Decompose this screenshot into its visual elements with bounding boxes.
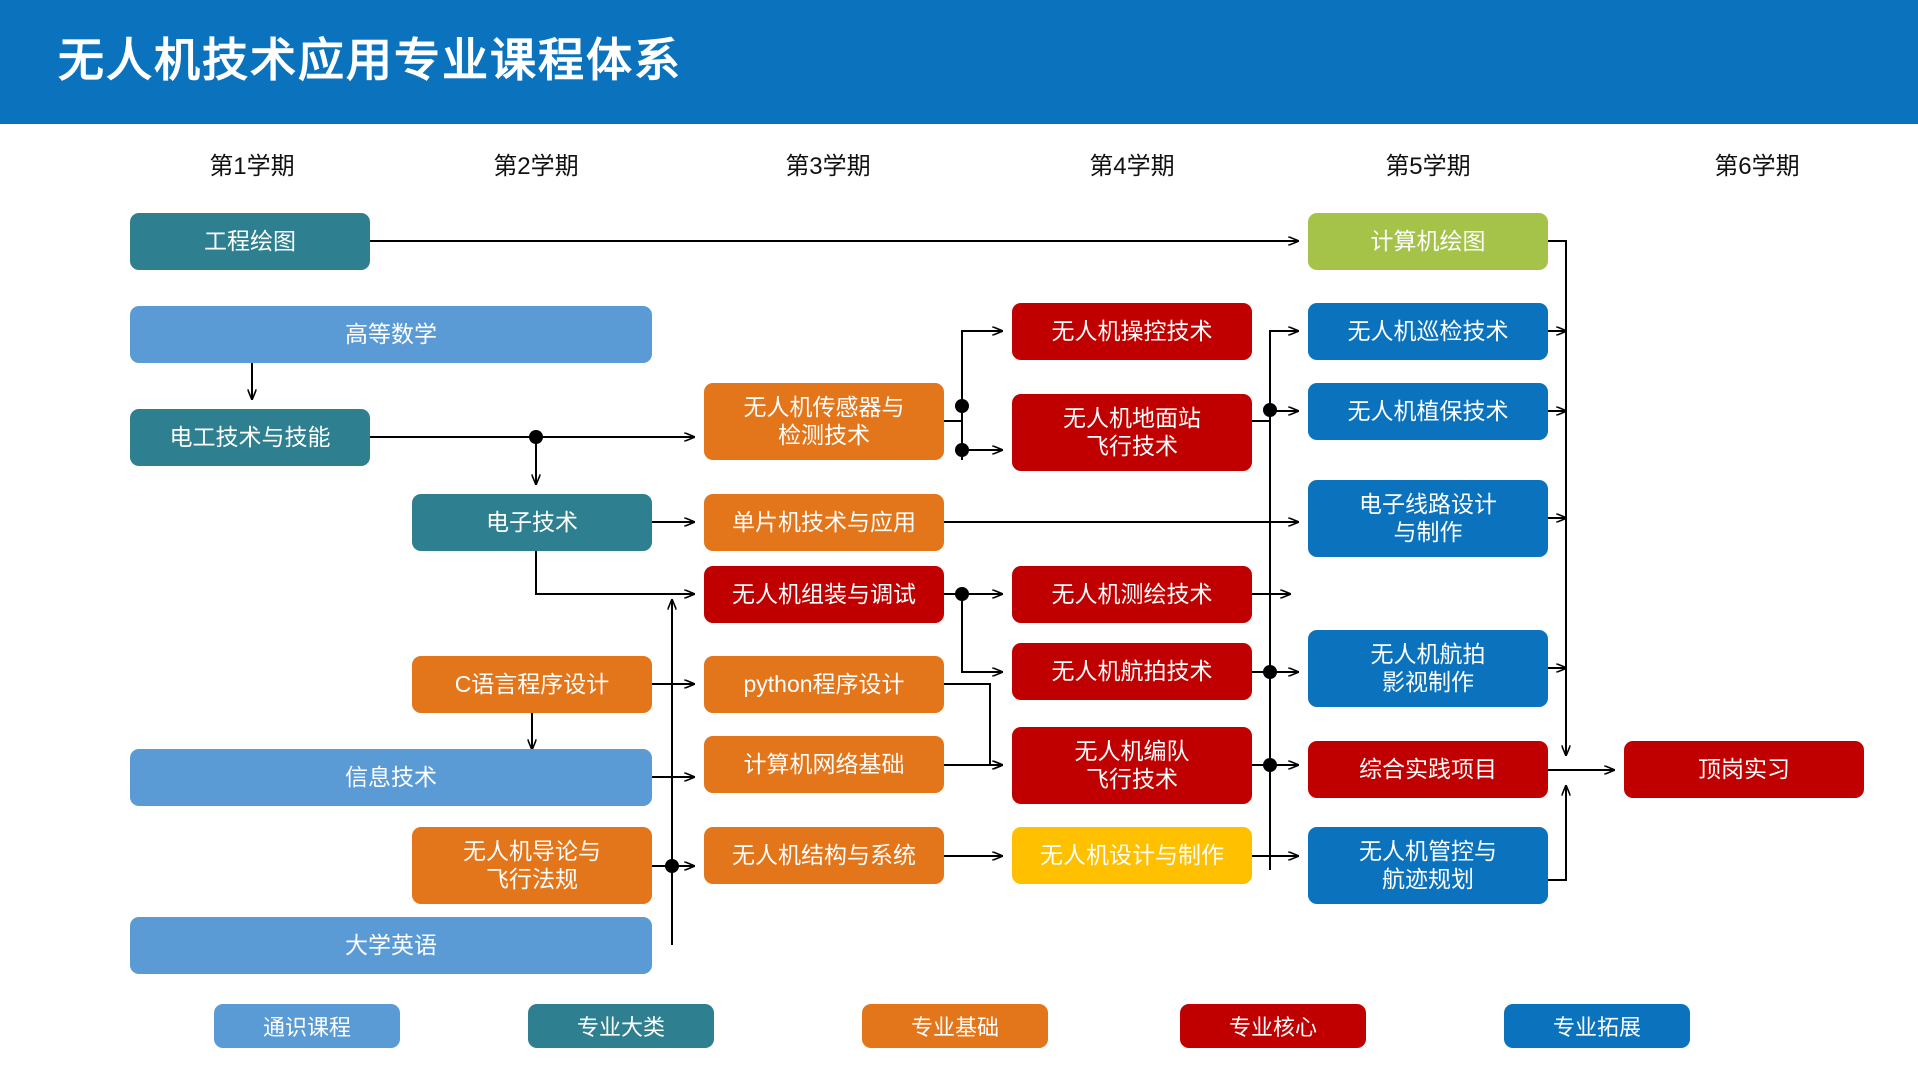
legend-item-basic[interactable]: 专业基础 [862, 1004, 1048, 1048]
page-header: 无人机技术应用专业课程体系 [0, 0, 1918, 124]
legend-item-general[interactable]: 通识课程 [214, 1004, 400, 1048]
course-system-diagram: 无人机技术应用专业课程体系 第1学期第2学期第3学期第4学期第5学期第6学期 [0, 0, 1918, 1077]
course-box-jisuanjihuitu[interactable]: 计算机绘图 [1308, 213, 1548, 270]
course-box-diangongjishu[interactable]: 电工技术与技能 [130, 409, 370, 466]
legend-item-major-cat[interactable]: 专业大类 [528, 1004, 714, 1048]
course-box-chuanganqi[interactable]: 无人机传感器与 检测技术 [704, 383, 944, 460]
semester-header-3: 第3学期 [718, 150, 938, 184]
course-box-python[interactable]: python程序设计 [704, 656, 944, 713]
course-box-gongchenghuitu[interactable]: 工程绘图 [130, 213, 370, 270]
course-box-gaodengshuxue[interactable]: 高等数学 [130, 306, 652, 363]
page-title: 无人机技术应用专业课程体系 [58, 20, 682, 100]
course-box-xinxijishu[interactable]: 信息技术 [130, 749, 652, 806]
legend-item-core[interactable]: 专业核心 [1180, 1004, 1366, 1048]
course-box-guankonghangji[interactable]: 无人机管控与 航迹规划 [1308, 827, 1548, 904]
semester-header-1: 第1学期 [142, 150, 362, 184]
semester-header-4: 第4学期 [1022, 150, 1242, 184]
course-box-hangpaiyingshi[interactable]: 无人机航拍 影视制作 [1308, 630, 1548, 707]
course-box-wurenjidaolun[interactable]: 无人机导论与 飞行法规 [412, 827, 652, 904]
course-box-cyuyan[interactable]: C语言程序设计 [412, 656, 652, 713]
course-box-wangluojichu[interactable]: 计算机网络基础 [704, 736, 944, 793]
course-box-shejizhizuo[interactable]: 无人机设计与制作 [1012, 827, 1252, 884]
semester-header-2: 第2学期 [426, 150, 646, 184]
course-box-bianduifeixing[interactable]: 无人机编队 飞行技术 [1012, 727, 1252, 804]
course-box-hangpaijishu[interactable]: 无人机航拍技术 [1012, 643, 1252, 700]
course-box-caokongjishu[interactable]: 无人机操控技术 [1012, 303, 1252, 360]
semester-header-6: 第6学期 [1647, 150, 1867, 184]
course-box-xunjianjishu[interactable]: 无人机巡检技术 [1308, 303, 1548, 360]
course-box-zhibaojishu[interactable]: 无人机植保技术 [1308, 383, 1548, 440]
course-box-danpianji[interactable]: 单片机技术与应用 [704, 494, 944, 551]
course-box-jiegouxitong[interactable]: 无人机结构与系统 [704, 827, 944, 884]
course-box-dinggangshixi[interactable]: 顶岗实习 [1624, 741, 1864, 798]
course-box-dianzixianlu[interactable]: 电子线路设计 与制作 [1308, 480, 1548, 557]
semester-header-5: 第5学期 [1318, 150, 1538, 184]
course-box-zonghexiangmu[interactable]: 综合实践项目 [1308, 741, 1548, 798]
course-box-cehuijishu[interactable]: 无人机测绘技术 [1012, 566, 1252, 623]
legend-item-extend[interactable]: 专业拓展 [1504, 1004, 1690, 1048]
course-box-daxueyingyu[interactable]: 大学英语 [130, 917, 652, 974]
course-box-zuzhuangtiaoshi[interactable]: 无人机组装与调试 [704, 566, 944, 623]
course-box-dimianzhan[interactable]: 无人机地面站 飞行技术 [1012, 394, 1252, 471]
course-box-dianzijishu[interactable]: 电子技术 [412, 494, 652, 551]
